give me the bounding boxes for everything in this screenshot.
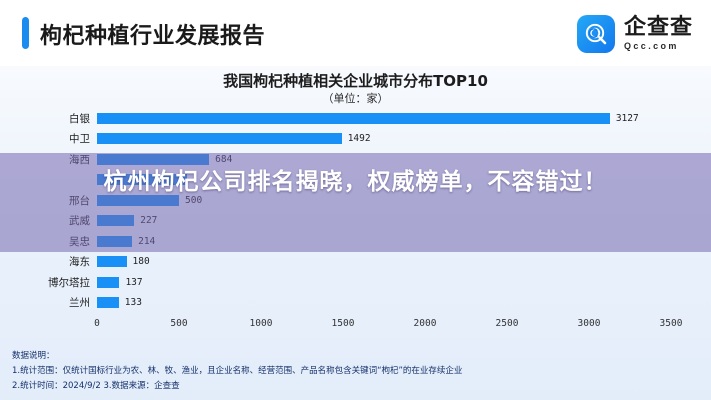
footnotes: 数据说明： 1.统计范围：仅统计国标行业为农、林、牧、渔业，且企业名称、经营范围…	[12, 349, 702, 394]
watermark-overlay-text: 杭州枸杞公司排名揭晓，权威榜单，不容错过！	[0, 168, 711, 198]
bar	[97, 277, 119, 288]
bar-category-label: 吴忠	[0, 234, 90, 249]
bar	[97, 256, 127, 267]
footnote-line-1: 1.统计范围：仅统计国标行业为农、林、牧、渔业，且企业名称、经营范围、产品名称包…	[12, 364, 702, 379]
footnote-heading: 数据说明：	[12, 349, 702, 364]
x-axis-tick: 1000	[250, 318, 273, 329]
x-axis: 0500100015002000250030003500	[0, 318, 711, 334]
bar	[97, 154, 209, 165]
bar-category-label: 兰州	[0, 295, 90, 310]
header-accent-bar	[22, 17, 29, 49]
report-page: 枸杞种植行业发展报告 企查查 Qcc.com 我国枸杞种植相关企业城市分布TOP…	[0, 0, 711, 400]
logo-text-en: Qcc.com	[624, 42, 693, 51]
bar-value-label: 180	[133, 256, 150, 267]
bar-row: 海西684	[0, 149, 711, 170]
bar-category-label: 中卫	[0, 131, 90, 146]
bar-category-label: 海东	[0, 254, 90, 269]
x-axis-tick: 0	[94, 318, 100, 329]
page-title: 枸杞种植行业发展报告	[40, 18, 265, 50]
bar-category-label: 白银	[0, 111, 90, 126]
x-axis-tick: 3500	[660, 318, 683, 329]
bar-value-label: 214	[138, 236, 155, 247]
bar-row: 博尔塔拉137	[0, 272, 711, 293]
bar-value-label: 227	[140, 215, 157, 226]
bar-row: 白银3127	[0, 108, 711, 129]
brand-logo: 企查查 Qcc.com	[577, 14, 693, 54]
x-axis-tick: 2000	[414, 318, 437, 329]
bar-category-label: 博尔塔拉	[0, 275, 90, 290]
bar-value-label: 684	[215, 154, 232, 165]
bar-value-label: 133	[125, 297, 142, 308]
chart-title: 我国枸杞种植相关企业城市分布TOP10	[0, 70, 711, 91]
bar-category-label: 海西	[0, 152, 90, 167]
x-axis-tick: 2500	[496, 318, 519, 329]
bar-chart-plot: 白银3127中卫1492海西684邢台500武威227吴忠214海东180博尔塔…	[0, 108, 711, 313]
x-axis-tick: 500	[170, 318, 187, 329]
x-axis-tick: 1500	[332, 318, 355, 329]
logo-text-cn: 企查查	[624, 17, 693, 39]
bar	[97, 297, 119, 308]
chart-subtitle: （单位：家）	[0, 90, 711, 106]
bar-value-label: 137	[125, 277, 142, 288]
bar-row: 武威227	[0, 211, 711, 232]
bar-row: 海东180	[0, 252, 711, 273]
bar	[97, 215, 134, 226]
x-axis-tick: 3000	[578, 318, 601, 329]
bar	[97, 113, 610, 124]
bar	[97, 236, 132, 247]
bar-value-label: 3127	[616, 113, 639, 124]
bar-row: 兰州133	[0, 293, 711, 314]
page-header: 枸杞种植行业发展报告 企查查 Qcc.com	[0, 0, 711, 66]
bar-value-label: 1492	[348, 133, 371, 144]
bar	[97, 133, 342, 144]
bar-category-label: 武威	[0, 213, 90, 228]
qcc-logo-icon	[577, 15, 615, 53]
bar-row: 中卫1492	[0, 129, 711, 150]
footnote-line-2: 2.统计时间：2024/9/2 3.数据来源：企查查	[12, 379, 702, 394]
bar-row: 吴忠214	[0, 231, 711, 252]
